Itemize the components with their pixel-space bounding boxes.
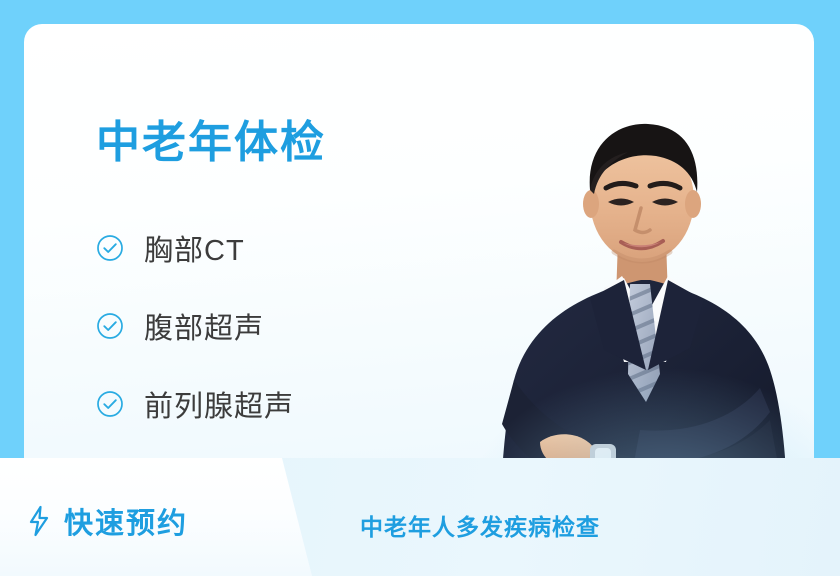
lightning-bolt-icon [26, 505, 52, 537]
quick-booking-label: 快速预约 [64, 500, 188, 542]
feature-label: 胸部CT [144, 227, 245, 269]
list-item: 前列腺超声 [96, 365, 294, 443]
check-circle-icon [96, 234, 124, 262]
check-circle-icon [96, 390, 124, 418]
list-item: 腹部超声 [96, 287, 294, 365]
page-title: 中老年体检 [96, 119, 326, 167]
feature-list: 胸部CT 腹部超声 前列腺超声 [96, 209, 294, 443]
tagline-text: 中老年人多发疾病检查 [360, 508, 600, 542]
bottom-bar: 中老年人多发疾病检查 快速预约 [0, 458, 840, 576]
check-circle-icon [96, 312, 124, 340]
list-item: 胸部CT [96, 209, 294, 287]
feature-label: 腹部超声 [144, 305, 264, 347]
quick-booking-content: 快速预约 [26, 500, 188, 542]
poster-root: 中老年体检 胸部CT 腹部超声 [0, 0, 840, 576]
feature-label: 前列腺超声 [144, 383, 294, 425]
